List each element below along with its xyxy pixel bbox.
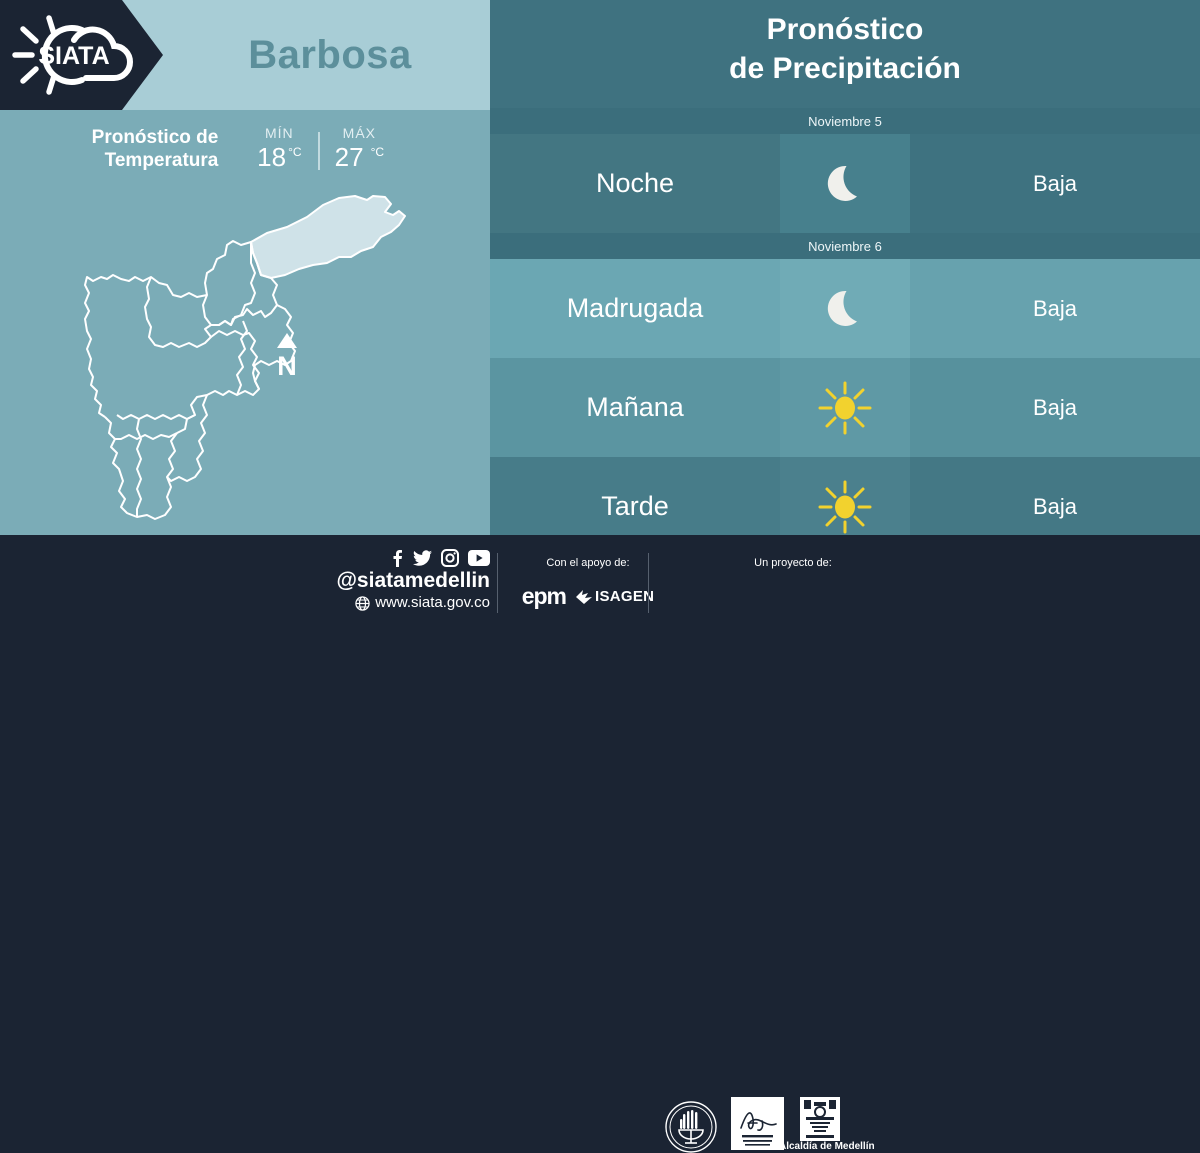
moon-icon [780, 259, 910, 358]
north-label: N [277, 351, 297, 381]
footer-divider-2 [648, 553, 649, 613]
max-value: 27 [335, 142, 364, 173]
alcaldia-medellin-logo [800, 1097, 840, 1141]
support-logos: epm ISAGEN [513, 583, 663, 610]
udea-seal-icon [665, 1101, 717, 1153]
twitter-icon[interactable] [413, 549, 432, 567]
youtube-icon[interactable] [468, 550, 490, 566]
area-metropolitana-logo [731, 1097, 784, 1150]
website-line[interactable]: www.siata.gov.co [300, 593, 490, 613]
max-unit: °C [371, 145, 384, 159]
precipitation-title: Pronóstico de Precipitación [490, 10, 1200, 88]
sun-icon [780, 358, 910, 457]
isagen-logo: ISAGEN [576, 588, 654, 605]
valle-de-aburra-map: N [55, 185, 455, 535]
social-block: @siatamedellin www.siata.gov.co [300, 549, 490, 613]
weather-forecast-poster: Barbosa SIATA Pronóstico de T [0, 0, 1200, 630]
probability-value: Baja [910, 259, 1200, 358]
page-title: Barbosa [170, 0, 490, 110]
min-label: MÍN [265, 125, 294, 141]
min-max-group: MÍN 18 °C MÁX 27 °C [240, 125, 398, 173]
instagram-icon[interactable] [441, 549, 459, 567]
project-block: Un proyecto de: [718, 557, 868, 569]
sun-cloud-icon: SIATA [10, 12, 145, 98]
epm-logo: epm [522, 583, 566, 610]
min-value: 18 [257, 142, 286, 173]
max-temperature: MÁX 27 °C [320, 125, 398, 173]
date-band-1: Noviembre 5 [490, 108, 1200, 134]
table-row[interactable]: Noche Baja [490, 134, 1200, 233]
max-value-wrap: 27 °C [335, 142, 384, 173]
min-temperature: MÍN 18 °C [240, 125, 318, 173]
social-handle[interactable]: @siatamedellin [300, 569, 490, 593]
probability-value: Baja [910, 134, 1200, 233]
left-header-band: Barbosa SIATA [0, 0, 490, 110]
alcaldia-label: Alcaldía de Medellín [779, 1141, 875, 1152]
website-text: www.siata.gov.co [375, 593, 490, 613]
project-caption: Un proyecto de: [718, 557, 868, 569]
map-region-barbosa [251, 196, 405, 278]
temperature-summary: Pronóstico de Temperatura MÍN 18 °C MÁX [0, 118, 490, 180]
support-block: Con el apoyo de: epm ISAGEN [513, 557, 663, 610]
period-label: Mañana [490, 358, 780, 457]
min-unit: °C [288, 145, 301, 159]
max-label: MÁX [343, 125, 376, 141]
moon-icon [780, 134, 910, 233]
brand-logo-text: SIATA [38, 42, 109, 70]
facebook-icon[interactable] [390, 549, 404, 567]
min-value-wrap: 18 °C [257, 142, 301, 173]
footer: @siatamedellin www.siata.gov.co Con el a… [0, 535, 1200, 630]
table-row[interactable]: Madrugada Baja [490, 259, 1200, 358]
right-panel: Pronóstico de Precipitación Noviembre 5 … [490, 0, 1200, 535]
probability-value: Baja [910, 358, 1200, 457]
globe-icon [355, 596, 370, 611]
left-panel: Barbosa SIATA Pronóstico de T [0, 0, 490, 535]
support-caption: Con el apoyo de: [513, 557, 663, 569]
north-arrow-icon: N [277, 333, 297, 381]
forecast-table: Noviembre 5 Noche Baja Noviembre 6 Madru… [490, 108, 1200, 556]
period-label: Noche [490, 134, 780, 233]
period-label: Madrugada [490, 259, 780, 358]
social-icons [300, 549, 490, 567]
date-band-2: Noviembre 6 [490, 233, 1200, 259]
footer-divider-1 [497, 553, 498, 613]
isagen-mark-icon [576, 590, 592, 604]
temperature-title: Pronóstico de Temperatura [92, 126, 219, 172]
map-region-outlines [85, 241, 295, 519]
table-row[interactable]: Mañana [490, 358, 1200, 457]
min-max-divider [318, 132, 320, 170]
